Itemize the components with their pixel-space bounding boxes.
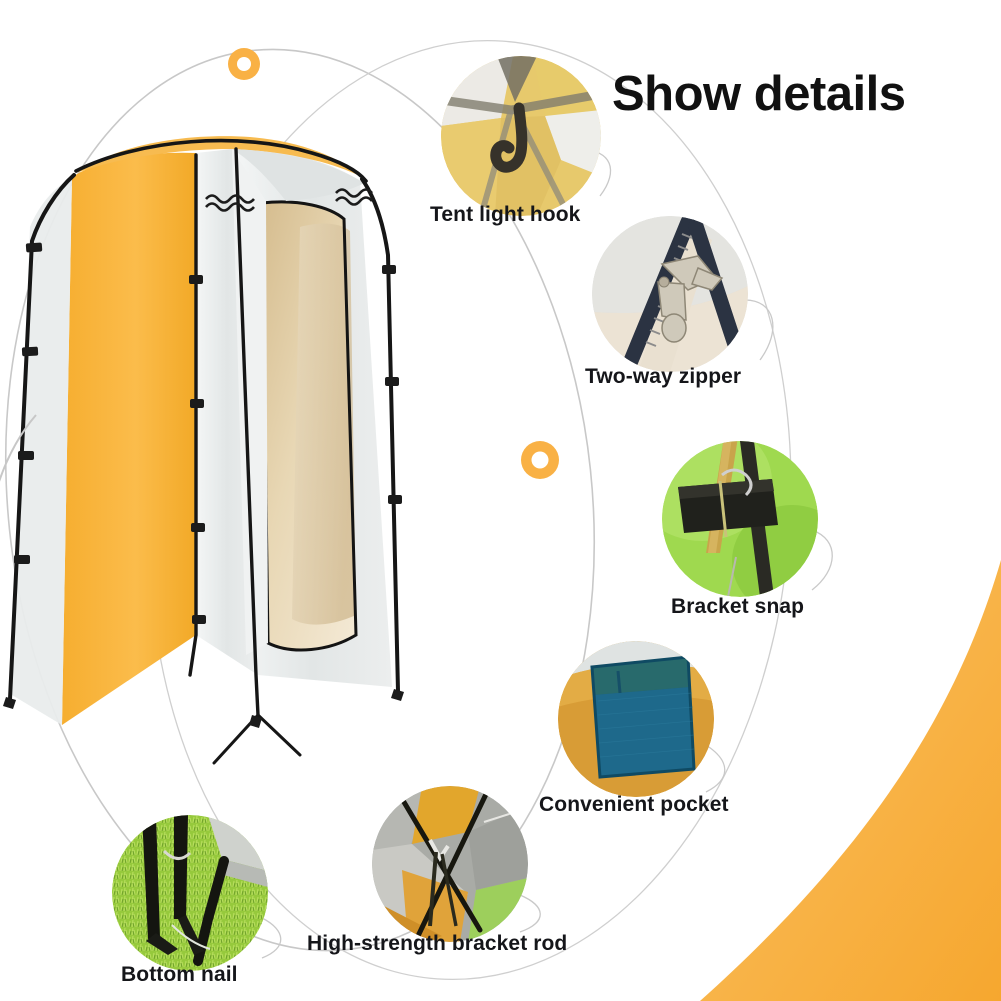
- product-photo-main: [0, 115, 420, 815]
- pocket-photo: [558, 641, 714, 797]
- detail-label-convenient-pocket: Convenient pocket: [539, 793, 729, 817]
- detail-label-two-way-zipper: Two-way zipper: [585, 365, 741, 389]
- product-detail-infographic: Show details: [0, 0, 1001, 1001]
- detail-photo-bottom-nail: [112, 815, 268, 971]
- zipper-slider-lower: [658, 282, 686, 342]
- hook-photo: [441, 56, 601, 216]
- detail-photo-bracket-snap: [662, 441, 818, 597]
- detail-label-tent-light-hook: Tent light hook: [430, 203, 580, 227]
- rod-photo: [372, 786, 528, 942]
- detail-photo-high-strength-bracket-rod: [372, 786, 528, 942]
- detail-label-high-strength-bracket-rod: High-strength bracket rod: [307, 932, 567, 956]
- ring-marker-mid: [521, 441, 559, 479]
- detail-photo-two-way-zipper: [592, 216, 748, 372]
- leader-zipper: [745, 300, 773, 360]
- corner-accent-shape: [700, 560, 1001, 1001]
- detail-label-bracket-snap: Bracket snap: [671, 595, 804, 619]
- tent-illustration: [0, 115, 420, 815]
- detail-photo-convenient-pocket: [558, 641, 714, 797]
- page-title: Show details: [612, 66, 906, 122]
- nail-photo: [112, 815, 268, 971]
- ring-marker-top: [228, 48, 260, 80]
- snap-photo: [662, 441, 818, 597]
- nail-pole-right: [174, 815, 188, 919]
- zipper-photo: [592, 216, 748, 372]
- tent-left-panel: [62, 153, 196, 725]
- detail-label-bottom-nail: Bottom nail: [121, 963, 238, 987]
- detail-photo-tent-light-hook: [441, 56, 601, 216]
